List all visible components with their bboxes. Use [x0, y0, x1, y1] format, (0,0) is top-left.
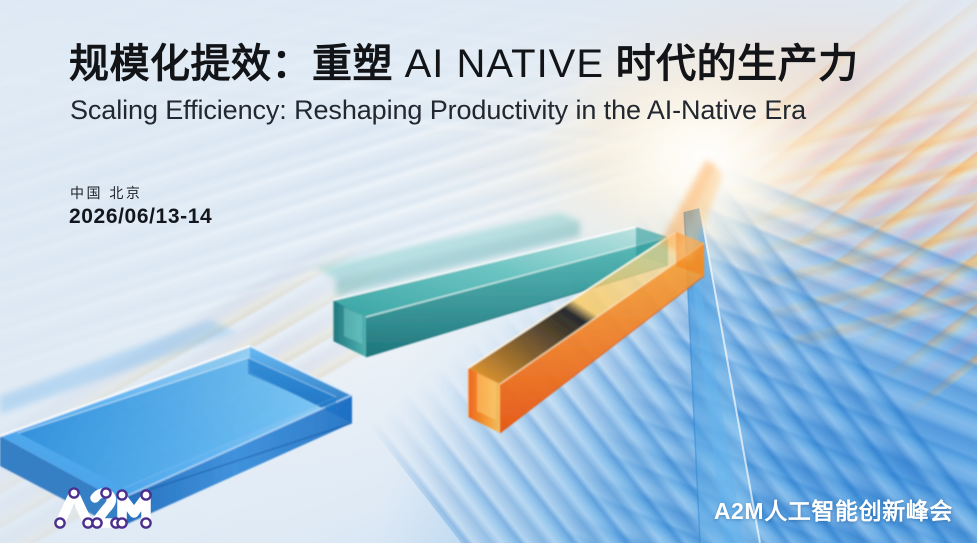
- headline-cn-part1: 规模化提效：重塑: [69, 42, 405, 86]
- a2m-logo: [54, 483, 158, 529]
- headline-cn-part2: 时代的生产力: [604, 42, 859, 86]
- page-title: 规模化提效：重塑 AI NATIVE 时代的生产力: [69, 41, 859, 88]
- headline-latin: AI NATIVE: [405, 42, 604, 86]
- page-subtitle: Scaling Efficiency: Reshaping Productivi…: [70, 95, 806, 126]
- event-date: 2026/06/13-14: [69, 205, 212, 229]
- event-location: 中国 北京: [70, 183, 142, 203]
- event-name-label: A2M人工智能创新峰会: [714, 492, 953, 526]
- conference-keynote-slide: 规模化提效：重塑 AI NATIVE 时代的生产力 Scaling Effici…: [0, 0, 977, 543]
